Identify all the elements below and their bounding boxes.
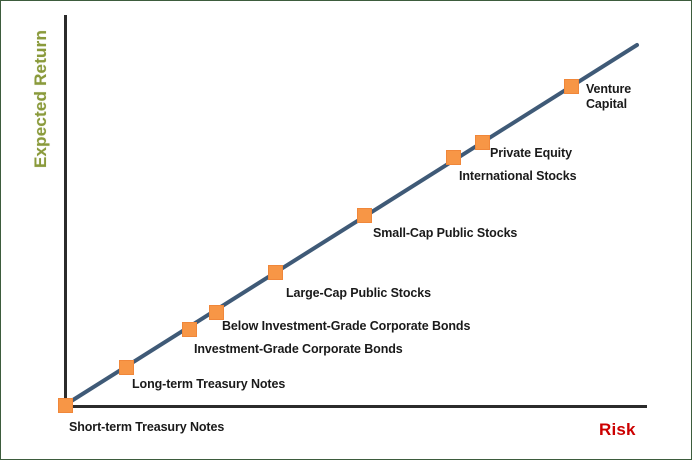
data-point-marker xyxy=(209,305,224,320)
data-point-marker xyxy=(357,208,372,223)
data-point-label: Short-term Treasury Notes xyxy=(69,420,224,435)
data-point-label: Investment-Grade Corporate Bonds xyxy=(194,342,403,357)
data-point-marker xyxy=(182,322,197,337)
data-point-label: Long-term Treasury Notes xyxy=(132,377,285,392)
data-point-marker xyxy=(446,150,461,165)
data-point-marker xyxy=(58,398,73,413)
y-axis-label: Expected Return xyxy=(31,19,51,179)
data-point-marker xyxy=(564,79,579,94)
data-point-label: Small-Cap Public Stocks xyxy=(373,226,517,241)
data-point-marker xyxy=(268,265,283,280)
data-point-label: Venture Capital xyxy=(586,82,631,112)
chart-figure: Expected Return Risk Short-term Treasury… xyxy=(0,0,692,460)
data-point-marker xyxy=(119,360,134,375)
data-point-label: Below Investment-Grade Corporate Bonds xyxy=(222,319,470,334)
data-point-label: Private Equity xyxy=(490,146,572,161)
data-point-label: International Stocks xyxy=(459,169,576,184)
data-point-marker xyxy=(475,135,490,150)
x-axis-label: Risk xyxy=(599,420,636,440)
data-point-label: Large-Cap Public Stocks xyxy=(286,286,431,301)
chart-canvas xyxy=(1,1,692,460)
